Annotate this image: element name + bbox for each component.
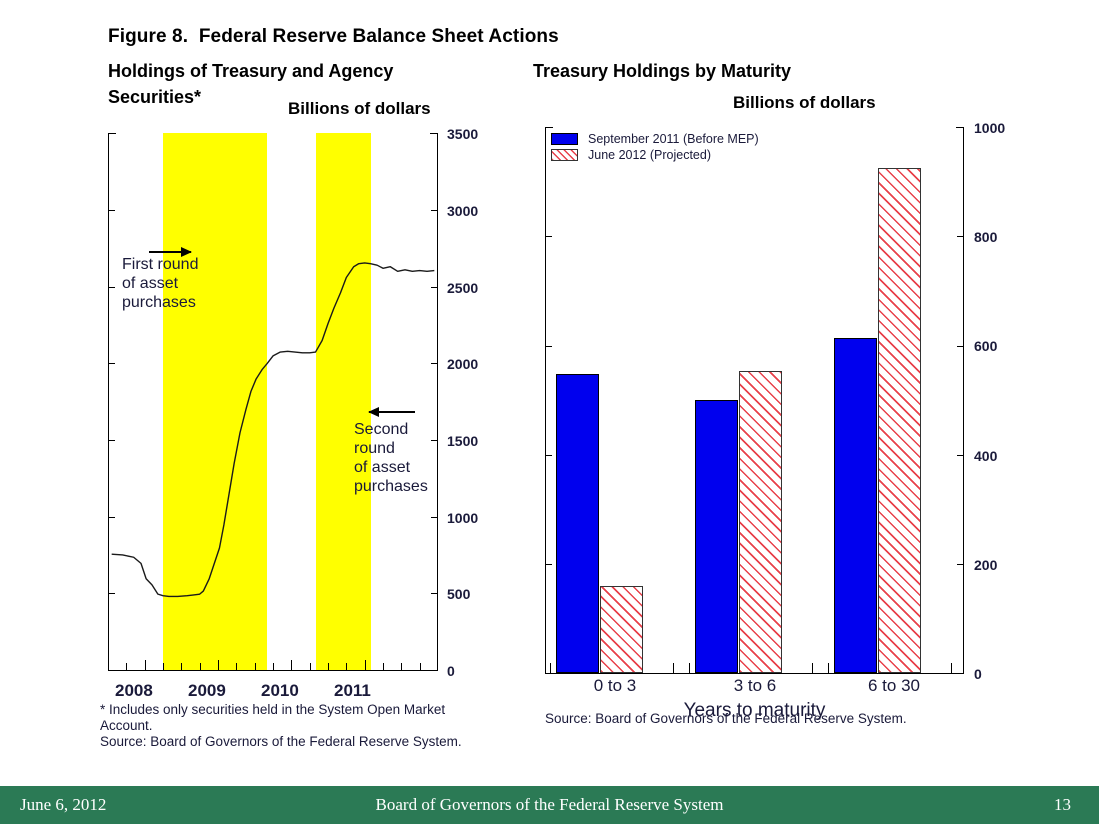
right-xtick (689, 663, 690, 674)
right-source: Source: Board of Governors of the Federa… (545, 711, 985, 727)
right-ylabel-1000: 1000 (974, 120, 1005, 136)
xtick-minor (163, 663, 164, 671)
right-top-left-corner-tick (545, 127, 553, 128)
right-xtick (951, 663, 952, 674)
legend-swatch-hatch (551, 149, 578, 161)
ytick-1500 (431, 440, 438, 441)
category-label-0-to-3: 0 to 3 (545, 676, 685, 696)
annotation-first-round: First round of asset purchases (122, 255, 198, 312)
right-ytick-left-400 (545, 455, 552, 456)
right-ylabel-0: 0 (974, 666, 982, 682)
ytick-left-2000 (108, 363, 115, 364)
bar-0-to-3-sep-2011 (556, 374, 599, 673)
right-ytick-left-600 (545, 346, 552, 347)
right-chart-x-axis (545, 673, 964, 674)
right-xtick (673, 663, 674, 674)
legend-item-september-2011: September 2011 (Before MEP) (551, 131, 759, 146)
right-xtick (828, 663, 829, 674)
ytick-3000 (431, 210, 438, 211)
maturity-bar-chart: September 2011 (Before MEP) June 2012 (P… (545, 127, 964, 674)
right-ylabel-800: 800 (974, 229, 997, 245)
footer-center-text: Board of Governors of the Federal Reserv… (0, 795, 1099, 815)
category-label-3-to-6: 3 to 6 (685, 676, 825, 696)
ylabel-2000: 2000 (447, 356, 478, 372)
xtick-minor (365, 660, 366, 671)
xtick-minor (420, 663, 421, 671)
ytick-left-2500 (108, 287, 115, 288)
ytick-left-3000 (108, 210, 115, 211)
right-ytick-left-800 (545, 236, 552, 237)
right-ytick-800 (957, 236, 964, 237)
right-ytick-600 (957, 346, 964, 347)
category-label-6-to-30: 6 to 30 (824, 676, 964, 696)
xlabel-2009: 2009 (188, 681, 226, 701)
ylabel-3000: 3000 (447, 203, 478, 219)
legend: September 2011 (Before MEP) June 2012 (P… (551, 131, 759, 163)
legend-swatch-solid (551, 133, 578, 145)
xtick-minor (273, 663, 274, 671)
right-ytick-left-200 (545, 564, 552, 565)
ylabel-1000: 1000 (447, 510, 478, 526)
footer-bar: June 6, 2012 Board of Governors of the F… (0, 786, 1099, 824)
xtick-minor (236, 663, 237, 671)
right-panel-title: Treasury Holdings by Maturity (533, 58, 963, 84)
left-units-label: Billions of dollars (288, 99, 431, 119)
right-xtick (812, 663, 813, 674)
footer-page-number: 13 (1054, 795, 1071, 815)
ylabel-500: 500 (447, 586, 470, 602)
ytick-2000 (431, 363, 438, 364)
xtick-minor (200, 663, 201, 671)
right-ylabel-600: 600 (974, 338, 997, 354)
legend-label-september-2011: September 2011 (Before MEP) (588, 132, 759, 146)
xlabel-2008: 2008 (115, 681, 153, 701)
xtick-minor (255, 663, 256, 671)
right-ytick-400 (957, 455, 964, 456)
right-chart-right-axis (963, 127, 964, 674)
xtick-minor (145, 660, 146, 671)
xtick-minor (401, 663, 402, 671)
arrow-left-icon (369, 407, 415, 417)
bar-0-to-3-jun-2012 (600, 586, 643, 673)
arrow-right-icon (149, 247, 191, 257)
right-top-right-corner-tick (956, 127, 964, 128)
holdings-line-path (108, 133, 438, 671)
ytick-left-1500 (108, 440, 115, 441)
xtick-minor (126, 663, 127, 671)
ytick-0 (431, 670, 438, 671)
bar-6-to-30-jun-2012 (878, 168, 921, 673)
right-units-label: Billions of dollars (733, 93, 876, 113)
xtick-minor (383, 663, 384, 671)
annotation-second-round: Second round of asset purchases (354, 420, 428, 496)
figure-title: Figure 8. Federal Reserve Balance Sheet … (108, 26, 559, 48)
ylabel-2500: 2500 (447, 280, 478, 296)
right-chart-left-axis (545, 127, 546, 674)
xtick-minor (181, 663, 182, 671)
ylabel-1500: 1500 (447, 433, 478, 449)
xlabel-2010: 2010 (261, 681, 299, 701)
legend-label-june-2012: June 2012 (Projected) (588, 148, 711, 162)
right-ylabel-200: 200 (974, 557, 997, 573)
right-xtick (550, 663, 551, 674)
ytick-left-500 (108, 593, 115, 594)
bar-3-to-6-jun-2012 (739, 371, 782, 673)
xtick-minor (291, 660, 292, 671)
bar-3-to-6-sep-2011 (695, 400, 738, 673)
right-ytick-200 (957, 564, 964, 565)
holdings-line-chart (108, 133, 438, 671)
ytick-1000 (431, 517, 438, 518)
legend-item-june-2012: June 2012 (Projected) (551, 147, 759, 162)
slide: Figure 8. Federal Reserve Balance Sheet … (0, 0, 1099, 824)
left-footnote: * Includes only securities held in the S… (100, 702, 520, 750)
right-ylabel-400: 400 (974, 448, 997, 464)
bar-6-to-30-sep-2011 (834, 338, 877, 673)
xtick-minor (218, 660, 219, 671)
xtick-minor (328, 663, 329, 671)
ylabel-0: 0 (447, 663, 455, 679)
ytick-500 (431, 593, 438, 594)
ytick-left-1000 (108, 517, 115, 518)
ylabel-3500: 3500 (447, 126, 478, 142)
xtick-minor (346, 663, 347, 671)
xtick-minor (310, 663, 311, 671)
right-ytick-0 (957, 673, 964, 674)
ytick-2500 (431, 287, 438, 288)
xlabel-2011: 2011 (334, 681, 371, 701)
